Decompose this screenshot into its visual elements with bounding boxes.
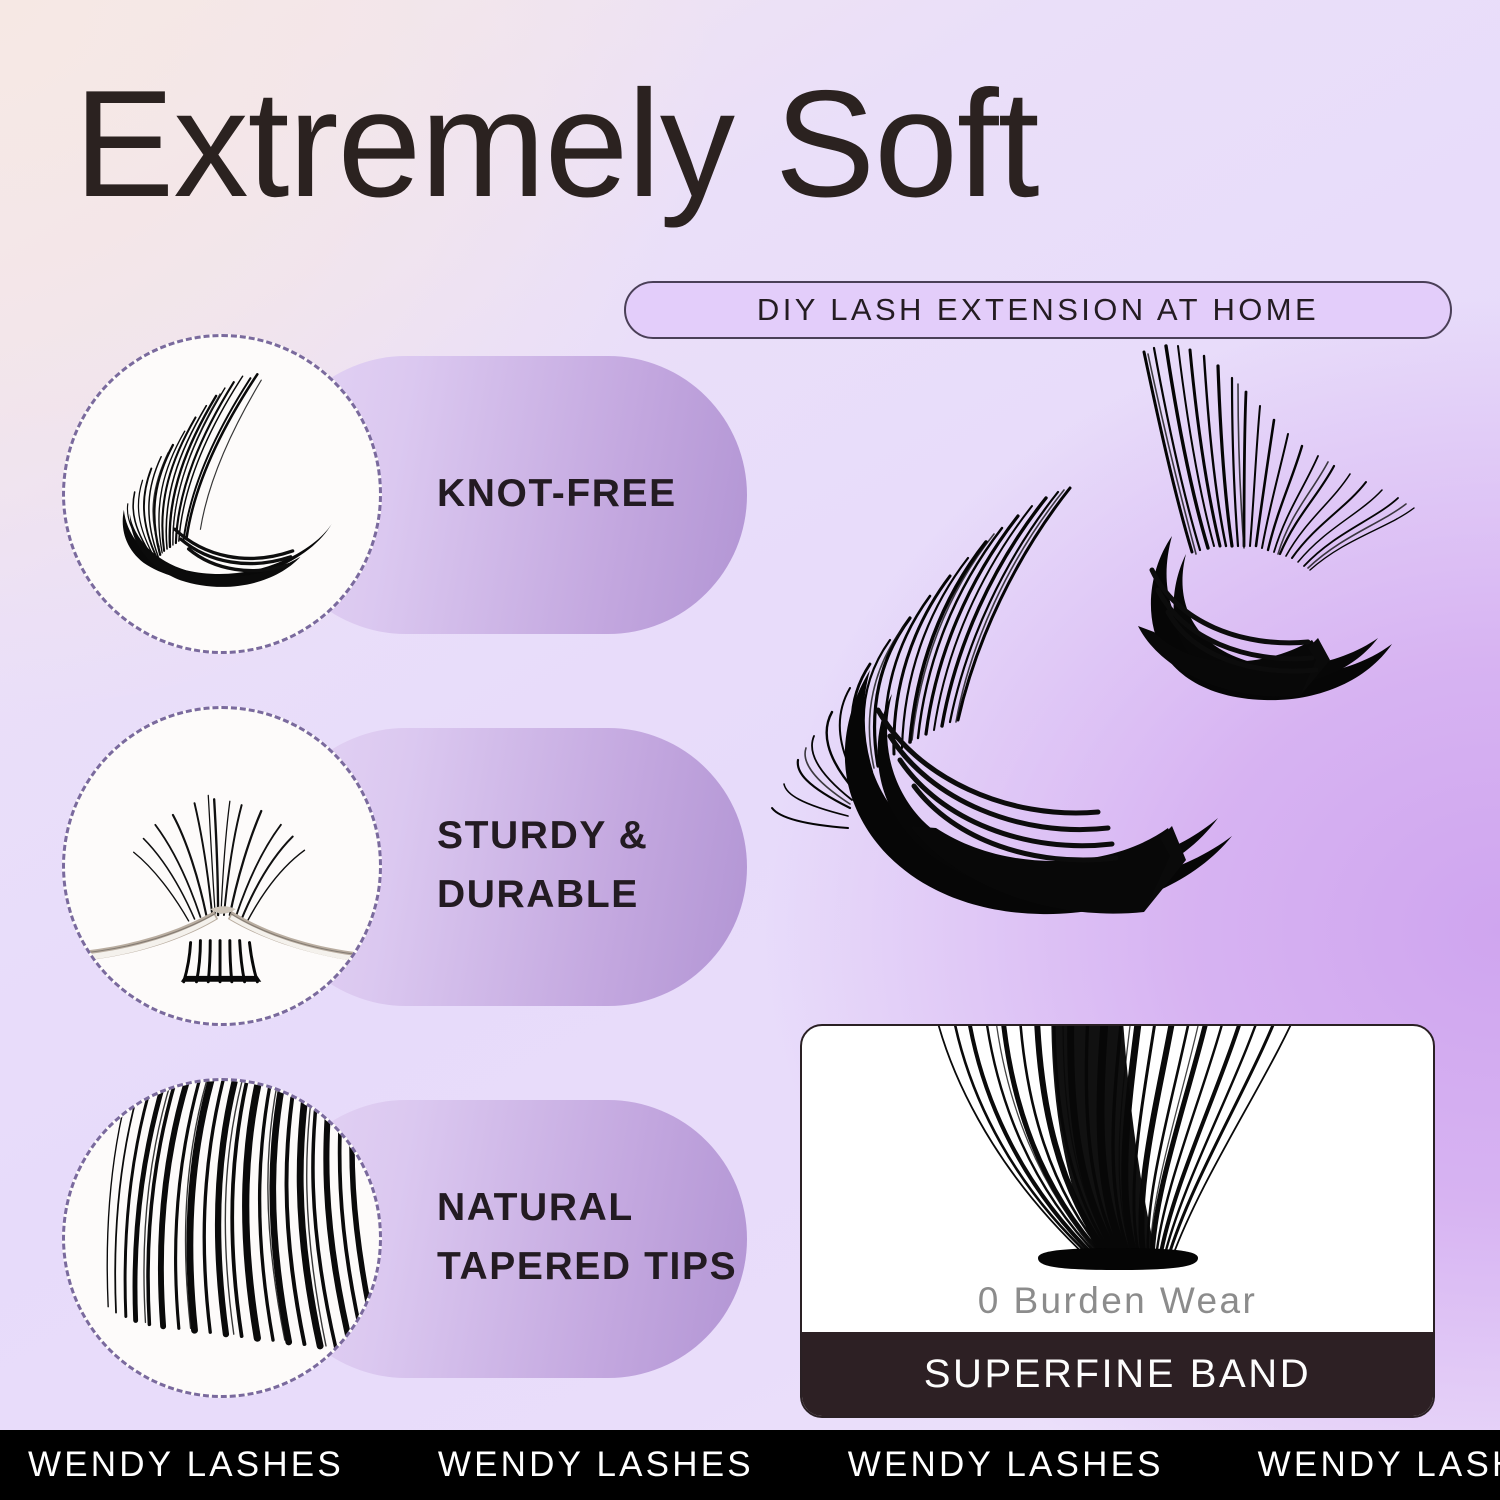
watermark-item: WENDY LASHES [438, 1445, 754, 1485]
feature-row-knot-free: KNOT-FREE [62, 334, 752, 654]
product-feature-poster: Extremely Soft DIY LASH EXTENSION AT HOM… [0, 0, 1500, 1500]
lash-cluster-curved-icon [62, 334, 382, 654]
card-caption: 0 Burden Wear [802, 1270, 1433, 1332]
tweezers-holding-lash-icon [62, 706, 382, 1026]
subtitle-pill: DIY LASH EXTENSION AT HOME [624, 281, 1452, 339]
watermark-item: WENDY LASHES [1258, 1445, 1500, 1485]
fanned-lash-on-band-icon [802, 1026, 1433, 1270]
watermark-track: WENDY LASHES WENDY LASHES WENDY LASHES W… [0, 1445, 1500, 1485]
feature-label: NATURAL TAPERED TIPS [437, 1078, 797, 1398]
feature-label-line2: TAPERED TIPS [437, 1239, 797, 1296]
feature-label-line1: NATURAL [437, 1180, 797, 1237]
subtitle-text: DIY LASH EXTENSION AT HOME [757, 292, 1319, 328]
page-title: Extremely Soft [74, 68, 1460, 220]
watermark-item: WENDY LASHES [848, 1445, 1164, 1485]
brand-watermark-strip: WENDY LASHES WENDY LASHES WENDY LASHES W… [0, 1430, 1500, 1500]
feature-row-sturdy-durable: STURDY & DURABLE [62, 706, 752, 1026]
tapered-fibers-macro-icon [62, 1078, 382, 1398]
watermark-item: WENDY LASHES [28, 1445, 344, 1485]
feature-row-natural-tapered-tips: NATURAL TAPERED TIPS [62, 1078, 752, 1398]
card-footer: SUPERFINE BAND [802, 1332, 1433, 1416]
card-footer-label: SUPERFINE BAND [924, 1352, 1312, 1397]
two-lash-clusters-icon [740, 340, 1500, 1020]
superfine-band-card: 0 Burden Wear SUPERFINE BAND [800, 1024, 1435, 1418]
